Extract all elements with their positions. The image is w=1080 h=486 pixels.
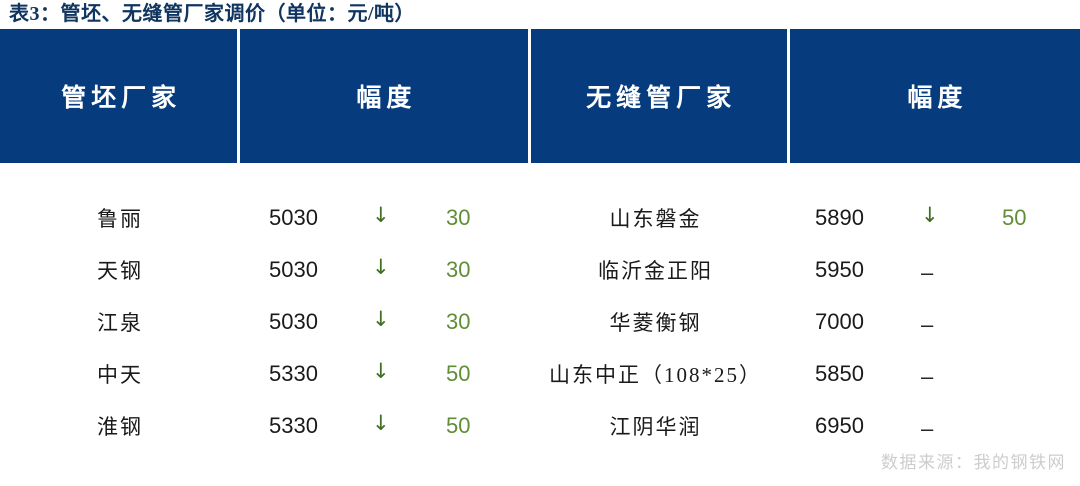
billet-delta: 30 xyxy=(446,205,470,231)
billet-delta: 50 xyxy=(446,361,470,387)
table-row: 淮钢 5330 ↓ 50 江阴华润 6950 – xyxy=(0,400,1080,452)
column-header-seamless-change: 幅度 xyxy=(790,29,1080,163)
arrow-down-icon: ↓ xyxy=(372,205,390,226)
billet-mill-name: 鲁丽 xyxy=(0,192,238,244)
seamless-price: 5890 xyxy=(815,205,864,231)
column-header-billet-change: 幅度 xyxy=(240,29,527,163)
data-source-label: 数据来源：我的钢铁网 xyxy=(881,448,1066,473)
column-header-label: 幅度 xyxy=(351,78,416,114)
billet-price: 5330 xyxy=(269,413,318,439)
seamless-change-cell: 6950 – xyxy=(783,400,1074,452)
column-header-label: 无缝管厂家 xyxy=(581,78,736,114)
billet-price: 5030 xyxy=(269,257,318,283)
billet-price: 5330 xyxy=(269,361,318,387)
no-change-dash-icon: – xyxy=(921,314,933,336)
table-row: 江泉 5030 ↓ 30 华菱衡钢 7000 – xyxy=(0,296,1080,348)
arrow-down-icon: ↓ xyxy=(372,309,390,330)
page-title: 表3：管坯、无缝管厂家调价（单位：元/吨） xyxy=(9,1,415,27)
seamless-change-cell: 5890 ↓ 50 xyxy=(783,192,1074,244)
arrow-down-icon: ↓ xyxy=(372,413,390,434)
billet-mill-name: 淮钢 xyxy=(0,400,238,452)
billet-delta: 30 xyxy=(446,309,470,335)
billet-change-cell: 5330 ↓ 50 xyxy=(238,400,526,452)
table-row: 中天 5330 ↓ 50 山东中正（108*25） 5850 – xyxy=(0,348,1080,400)
arrow-down-icon: ↓ xyxy=(372,361,390,382)
table-body: 鲁丽 5030 ↓ 30 山东磐金 5890 ↓ 50 天钢 5030 ↓ 30… xyxy=(0,192,1080,452)
seamless-price: 5850 xyxy=(815,361,864,387)
billet-delta: 50 xyxy=(446,413,470,439)
column-header-billet-mill: 管坯厂家 xyxy=(0,29,237,163)
seamless-mill-name: 临沂金正阳 xyxy=(526,244,783,296)
column-header-label: 幅度 xyxy=(902,78,967,114)
seamless-mill-name: 江阴华润 xyxy=(526,400,783,452)
column-header-label: 管坯厂家 xyxy=(56,78,181,114)
seamless-mill-name: 华菱衡钢 xyxy=(526,296,783,348)
seamless-mill-name: 山东中正（108*25） xyxy=(526,348,783,400)
no-change-dash-icon: – xyxy=(921,418,933,440)
arrow-down-icon: ↓ xyxy=(372,257,390,278)
seamless-change-cell: 7000 – xyxy=(783,296,1074,348)
billet-mill-name: 中天 xyxy=(0,348,238,400)
seamless-change-cell: 5850 – xyxy=(783,348,1074,400)
seamless-price: 5950 xyxy=(815,257,864,283)
billet-delta: 30 xyxy=(446,257,470,283)
billet-price: 5030 xyxy=(269,205,318,231)
billet-change-cell: 5030 ↓ 30 xyxy=(238,296,526,348)
seamless-price: 6950 xyxy=(815,413,864,439)
table-row: 天钢 5030 ↓ 30 临沂金正阳 5950 – xyxy=(0,244,1080,296)
seamless-price: 7000 xyxy=(815,309,864,335)
billet-change-cell: 5030 ↓ 30 xyxy=(238,244,526,296)
table-header-row: 管坯厂家 幅度 无缝管厂家 幅度 xyxy=(0,29,1080,163)
billet-price: 5030 xyxy=(269,309,318,335)
no-change-dash-icon: – xyxy=(921,262,933,284)
billet-change-cell: 5330 ↓ 50 xyxy=(238,348,526,400)
price-table: 管坯厂家 幅度 无缝管厂家 幅度 鲁丽 5030 ↓ 30 山东磐金 5890 … xyxy=(0,29,1080,163)
billet-mill-name: 天钢 xyxy=(0,244,238,296)
seamless-mill-name: 山东磐金 xyxy=(526,192,783,244)
arrow-down-icon: ↓ xyxy=(921,205,939,226)
billet-mill-name: 江泉 xyxy=(0,296,238,348)
table-row: 鲁丽 5030 ↓ 30 山东磐金 5890 ↓ 50 xyxy=(0,192,1080,244)
billet-change-cell: 5030 ↓ 30 xyxy=(238,192,526,244)
no-change-dash-icon: – xyxy=(921,366,933,388)
seamless-delta: 50 xyxy=(1002,205,1026,231)
seamless-change-cell: 5950 – xyxy=(783,244,1074,296)
column-header-seamless-mill: 无缝管厂家 xyxy=(531,29,787,163)
